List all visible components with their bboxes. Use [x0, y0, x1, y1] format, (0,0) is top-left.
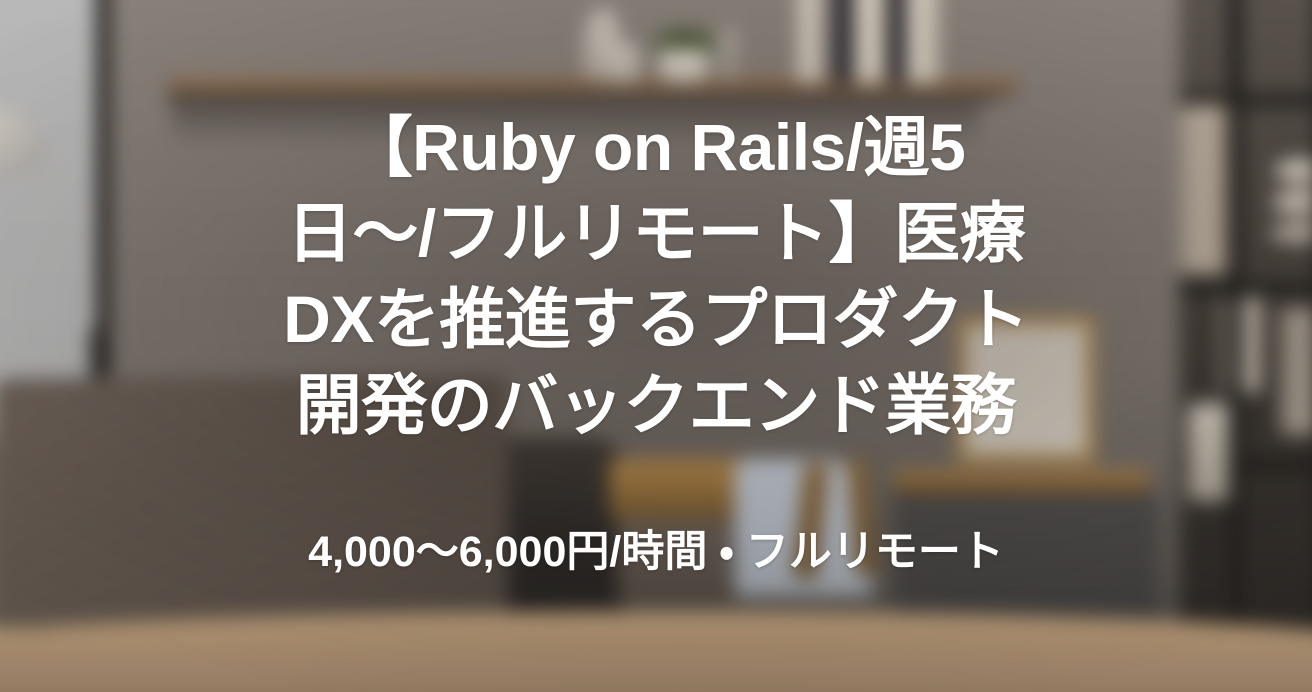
text-overlay: 【Ruby on Rails/週5日〜/フルリモート】医療DXを推進するプロダク…	[0, 0, 1312, 692]
job-title: 【Ruby on Rails/週5日〜/フルリモート】医療DXを推進するプロダク…	[276, 104, 1036, 448]
job-posting-banner: 【Ruby on Rails/週5日〜/フルリモート】医療DXを推進するプロダク…	[0, 0, 1312, 692]
job-subtitle-rate-and-workstyle: 4,000〜6,000円/時間 ・ フルリモート	[308, 526, 1004, 578]
